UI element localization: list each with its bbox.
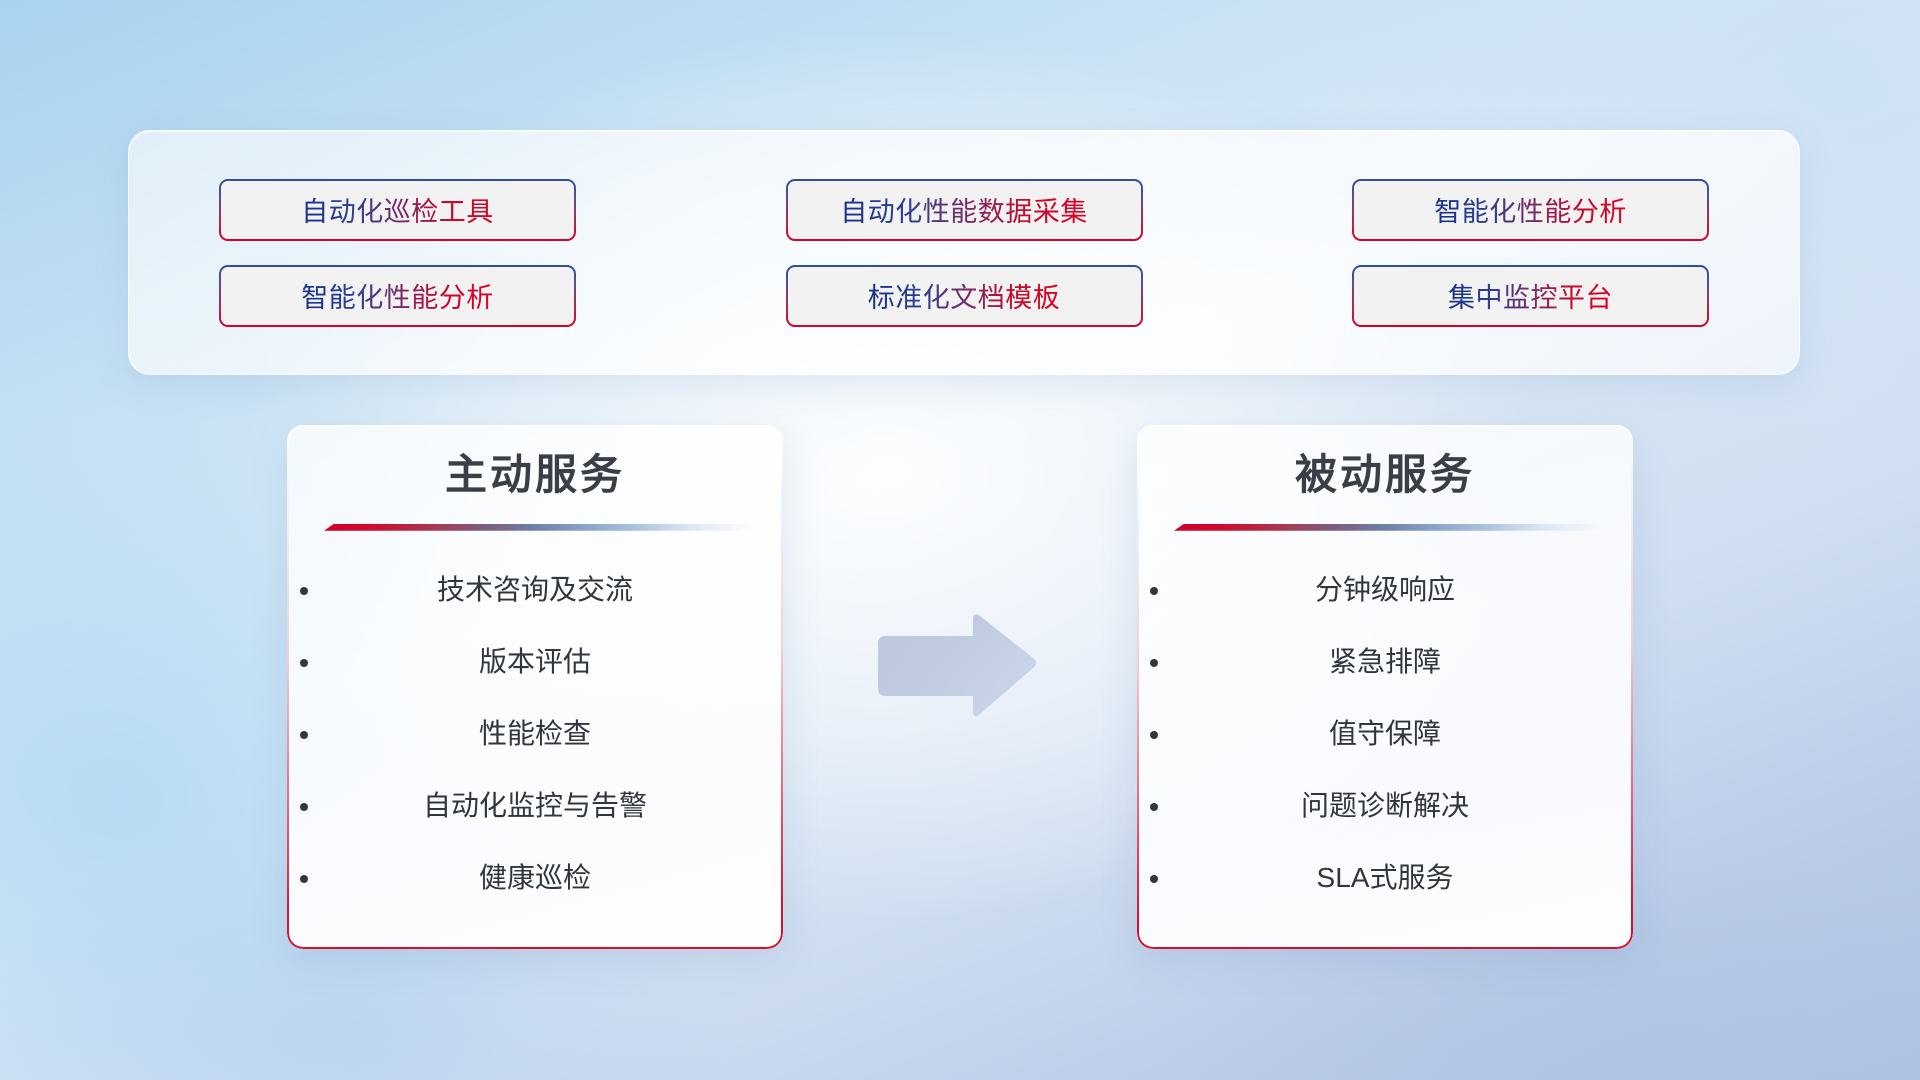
service-list-item: 版本评估: [323, 626, 747, 698]
service-item-list: 技术咨询及交流 版本评估 性能检查 自动化监控与告警 健康巡检: [323, 554, 747, 914]
capability-tag-label: 标准化文档模板: [868, 276, 1061, 315]
service-card-body: 被动服务 分钟级响应 紧急排障 值守保障 问题诊断解决 SLA式服务: [1137, 425, 1633, 914]
infographic-stage: 自动化巡检工具 自动化性能数据采集 智能化性能分析 智能化性能分析: [0, 0, 1920, 1080]
capability-tag-label: 集中监控平台: [1448, 276, 1613, 315]
service-list-item: 问题诊断解决: [1173, 770, 1597, 842]
capability-tag-inner: 标准化文档模板: [788, 267, 1141, 325]
capability-tag[interactable]: 自动化巡检工具: [219, 179, 576, 241]
capability-tag-inner: 集中监控平台: [1354, 267, 1707, 325]
capability-tag-inner: 自动化巡检工具: [221, 181, 574, 239]
capability-tag-inner: 自动化性能数据采集: [788, 181, 1141, 239]
service-card-title: 主动服务: [323, 447, 747, 504]
service-item-list: 分钟级响应 紧急排障 值守保障 问题诊断解决 SLA式服务: [1173, 554, 1597, 914]
service-list-item: SLA式服务: [1173, 842, 1597, 914]
service-list-item: 紧急排障: [1173, 626, 1597, 698]
capability-tag-label: 自动化性能数据采集: [840, 190, 1088, 229]
service-list-item: 自动化监控与告警: [323, 770, 747, 842]
service-card-body: 主动服务 技术咨询及交流 版本评估 性能检查 自动化监控与告警 健康巡检: [287, 425, 783, 914]
capability-tag[interactable]: 智能化性能分析: [1352, 179, 1709, 241]
card-title-divider: [1173, 522, 1597, 532]
capability-tag-inner: 智能化性能分析: [221, 267, 574, 325]
service-card-proactive: 主动服务 技术咨询及交流 版本评估 性能检查 自动化监控与告警 健康巡检: [287, 425, 783, 949]
capability-tag-row-2: 智能化性能分析 标准化文档模板 集中监控平台: [219, 265, 1709, 327]
service-list-item: 分钟级响应: [1173, 554, 1597, 626]
arrow-right-icon: [872, 610, 1040, 722]
capability-tag-label: 自动化巡检工具: [301, 190, 494, 229]
capability-tag[interactable]: 自动化性能数据采集: [786, 179, 1143, 241]
service-list-item: 技术咨询及交流: [323, 554, 747, 626]
capability-tag-inner: 智能化性能分析: [1354, 181, 1707, 239]
capability-tag-label: 智能化性能分析: [1434, 190, 1627, 229]
capability-tag-panel: 自动化巡检工具 自动化性能数据采集 智能化性能分析 智能化性能分析: [128, 130, 1800, 375]
capability-tag[interactable]: 智能化性能分析: [219, 265, 576, 327]
service-list-item: 健康巡检: [323, 842, 747, 914]
service-card-title: 被动服务: [1173, 447, 1597, 504]
capability-tag[interactable]: 集中监控平台: [1352, 265, 1709, 327]
capability-tag[interactable]: 标准化文档模板: [786, 265, 1143, 327]
capability-tag-row-1: 自动化巡检工具 自动化性能数据采集 智能化性能分析: [219, 179, 1709, 241]
service-list-item: 值守保障: [1173, 698, 1597, 770]
service-card-reactive: 被动服务 分钟级响应 紧急排障 值守保障 问题诊断解决 SLA式服务: [1137, 425, 1633, 949]
card-title-divider: [323, 522, 747, 532]
capability-tag-label: 智能化性能分析: [301, 276, 494, 315]
service-list-item: 性能检查: [323, 698, 747, 770]
